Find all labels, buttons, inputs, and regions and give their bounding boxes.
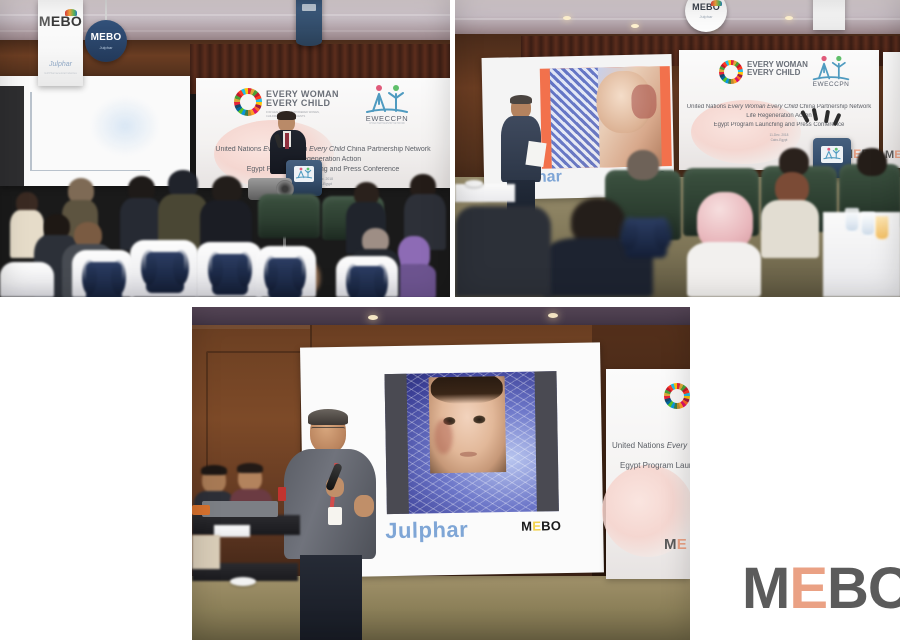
watermark-letter-m: M bbox=[742, 560, 789, 618]
backdrop-line-1: United Nations Every Woman Every Child C… bbox=[679, 104, 879, 110]
audience-member-hijab bbox=[687, 192, 761, 297]
chair-bow bbox=[350, 266, 384, 297]
sdg-figure-icon bbox=[245, 96, 252, 109]
rollup-fineprint: Gulf Pharmaceutical Industries bbox=[38, 72, 83, 75]
audience-member bbox=[761, 172, 819, 258]
mebo-letter-e: E bbox=[677, 537, 687, 552]
backdrop-line-2: Life Regeneration Action bbox=[679, 113, 879, 119]
mebo-letter-e: E bbox=[99, 33, 106, 43]
backdrop-line-4: 11-Dec. 2018 bbox=[679, 133, 879, 137]
screen-chart-hint bbox=[30, 170, 150, 171]
backdrop-line-1-tail: China Partnership Network bbox=[345, 146, 431, 153]
backdrop-line-a-italic: Every Woman Every Child bbox=[667, 441, 690, 450]
mebo-letter-m: M bbox=[521, 520, 532, 533]
photo-top-left: EVERY WOMAN EVERY CHILD FOR HEALTHY AND … bbox=[0, 0, 450, 297]
patient-eye bbox=[473, 416, 485, 424]
slide-side-bar bbox=[534, 371, 558, 511]
sdg-wheel-icon bbox=[664, 383, 690, 409]
speaker-hand bbox=[354, 495, 374, 517]
side-table bbox=[455, 184, 515, 202]
audience-member-foreground bbox=[455, 206, 551, 297]
watermark-letter-b: B bbox=[827, 560, 868, 618]
chair-bow bbox=[86, 262, 122, 297]
backdrop-mebo-logo: ME bbox=[664, 537, 687, 552]
backdrop-line-b: Egypt Program Launching bbox=[620, 461, 690, 470]
microphone bbox=[833, 113, 842, 127]
audience-torso bbox=[455, 206, 551, 297]
eweccpn-label: EWECCPN bbox=[364, 114, 410, 123]
audience-head bbox=[857, 148, 887, 176]
mebo-watermark-logo: M E B O bbox=[742, 560, 900, 618]
microphone bbox=[800, 110, 810, 123]
audience-area bbox=[0, 176, 450, 297]
patient-lesion bbox=[434, 419, 453, 454]
audience-member bbox=[851, 148, 893, 194]
sign-strap bbox=[105, 0, 107, 22]
slide-patient-photo bbox=[429, 376, 507, 473]
audience-torso bbox=[687, 242, 761, 297]
backdrop-line-1-plain: United Nations bbox=[215, 146, 263, 153]
ceiling-light bbox=[368, 315, 378, 320]
plate bbox=[230, 577, 256, 586]
chair-bow bbox=[212, 254, 248, 295]
speaker-hair bbox=[308, 409, 348, 425]
vertical-banner: Julphar bbox=[813, 0, 845, 30]
chair-cover bbox=[0, 262, 54, 297]
eweccpn-sublabel: CHINA PARTNERSHIP NETWORK bbox=[364, 123, 410, 125]
mebo-letter-m: M bbox=[39, 14, 51, 28]
watermark-letter-o: O bbox=[868, 560, 900, 618]
juice-glass bbox=[875, 216, 889, 240]
bag bbox=[192, 535, 220, 569]
screen-dark-edge bbox=[0, 86, 24, 186]
speaker-tie bbox=[285, 133, 289, 149]
mebo-letter-o: O bbox=[71, 14, 82, 28]
mebo-letter-m: M bbox=[91, 33, 100, 43]
photo-top-right: Julphar MEBO EVERY WOMAN EVERY CHILD bbox=[455, 0, 900, 297]
carpet-floor bbox=[192, 576, 690, 640]
watermark-letter-e: E bbox=[789, 560, 827, 618]
wood-panel-seam bbox=[192, 325, 310, 329]
presenter-hair bbox=[510, 95, 532, 104]
sdg-wheel-icon bbox=[719, 60, 743, 84]
audience-head bbox=[627, 150, 659, 180]
attendee-hair bbox=[237, 463, 263, 473]
drinking-glass bbox=[845, 208, 859, 232]
chair bbox=[258, 194, 320, 238]
disc-julphar: Julphar bbox=[699, 14, 712, 19]
mebo-letter-o: O bbox=[551, 519, 562, 532]
backdrop-line-a: United Nations Every Woman Every Child bbox=[612, 441, 690, 450]
eweccpn-label: EWECCPN bbox=[811, 81, 851, 88]
exit-sign bbox=[278, 487, 286, 501]
eweccpn-logo: EWECCPN CHINA PARTNERSHIP NETWORK bbox=[364, 84, 410, 118]
ewec-title-line2: EVERY CHILD bbox=[266, 99, 339, 108]
event-backdrop: EVERY WOMAN EVERY CHILD FOR HEALTHY AND … bbox=[196, 78, 450, 188]
microphone bbox=[812, 108, 819, 122]
sdg-figure-icon bbox=[674, 391, 680, 403]
photo-bottom-center: Julphar MEBO United Nations Every Woman … bbox=[192, 307, 690, 640]
hanging-disc-sign: MEBO Julphar bbox=[85, 20, 127, 62]
ceiling-light bbox=[563, 16, 571, 20]
mebo-letter-o: O bbox=[113, 33, 121, 43]
backdrop-line-a-plain: United Nations bbox=[612, 441, 667, 450]
slide-lesion-mark bbox=[632, 84, 657, 118]
slide-corner-mebo: MEBO bbox=[521, 519, 561, 533]
eweccpn-figures-icon bbox=[364, 84, 410, 118]
event-backdrop: United Nations Every Woman Every Child E… bbox=[606, 369, 690, 579]
patient-hair bbox=[430, 376, 504, 404]
av-equipment-accent bbox=[192, 505, 210, 515]
slide-side-bar bbox=[384, 374, 408, 514]
chair-bow bbox=[268, 258, 302, 297]
speaker-glasses-icon bbox=[311, 427, 345, 435]
ceiling-light bbox=[631, 24, 639, 28]
ewec-title-line2: EVERY CHILD bbox=[747, 69, 808, 77]
attendee-hair bbox=[201, 465, 227, 475]
mebo-leaf-icon bbox=[65, 9, 77, 16]
mebo-letter-e: E bbox=[51, 14, 61, 28]
collage-canvas: EVERY WOMAN EVERY CHILD FOR HEALTHY AND … bbox=[0, 0, 900, 640]
sdg-wheel-icon bbox=[234, 88, 262, 116]
rollup-banner: MEBO Julphar Gulf Pharmaceutical Industr… bbox=[38, 0, 83, 86]
mebo-letter-b: B bbox=[61, 14, 71, 28]
speaker-hair bbox=[277, 111, 296, 120]
mebo-letter-e: E bbox=[532, 519, 541, 532]
rollup-julphar: Julphar bbox=[38, 61, 83, 68]
drinking-glass bbox=[861, 212, 875, 236]
eweccpn-logo: EWECCPN bbox=[811, 55, 851, 85]
ewec-title: EVERY WOMAN EVERY CHILD bbox=[266, 90, 339, 109]
mebo-letter-b: B bbox=[106, 33, 113, 43]
mebo-letter-m: M bbox=[664, 537, 677, 552]
backdrop-line-3: Egypt Program Launching and Press Confer… bbox=[679, 122, 879, 128]
audience-area bbox=[455, 146, 900, 297]
rollup-brand-mebo: MEBO bbox=[39, 14, 82, 28]
speaker-badge bbox=[328, 507, 342, 525]
slide-brand-julphar: Julphar bbox=[385, 517, 468, 544]
patient-mouth bbox=[460, 451, 477, 456]
audience-torso bbox=[761, 200, 819, 258]
backdrop-line-1-plain: United Nations bbox=[687, 104, 728, 110]
chair-bow bbox=[146, 252, 184, 293]
ceiling-light bbox=[548, 313, 558, 318]
screen-chart-hint bbox=[30, 92, 32, 170]
backdrop-line-3: Egypt Program Launching and Press Confer… bbox=[196, 166, 450, 173]
disc-brand-mebo: MEBO bbox=[91, 33, 122, 43]
ewec-title: EVERY WOMAN EVERY CHILD bbox=[747, 61, 808, 78]
speaker-trousers bbox=[300, 555, 362, 640]
plate bbox=[465, 180, 483, 187]
mebo-letter-m: M bbox=[692, 3, 700, 12]
av-equipment bbox=[202, 501, 278, 517]
backdrop-line-2: Life Regeneration Action bbox=[196, 156, 450, 163]
mebo-letter-b: B bbox=[541, 519, 551, 532]
blade-banner-mark bbox=[302, 4, 316, 11]
ceiling-light bbox=[785, 16, 793, 20]
sdg-figure-icon bbox=[728, 67, 734, 78]
chair-bow bbox=[625, 218, 667, 258]
backdrop-line-1-italic: Every Woman Every Child bbox=[728, 104, 798, 110]
audience-member bbox=[621, 150, 665, 196]
audience-member bbox=[120, 176, 162, 250]
backdrop-line-1: United Nations Every Woman Every Child C… bbox=[196, 146, 450, 153]
screen-glow bbox=[90, 96, 160, 156]
microphone bbox=[824, 110, 830, 123]
mebo-leaf-icon bbox=[711, 0, 722, 6]
disc-julphar: Julphar bbox=[99, 45, 112, 50]
